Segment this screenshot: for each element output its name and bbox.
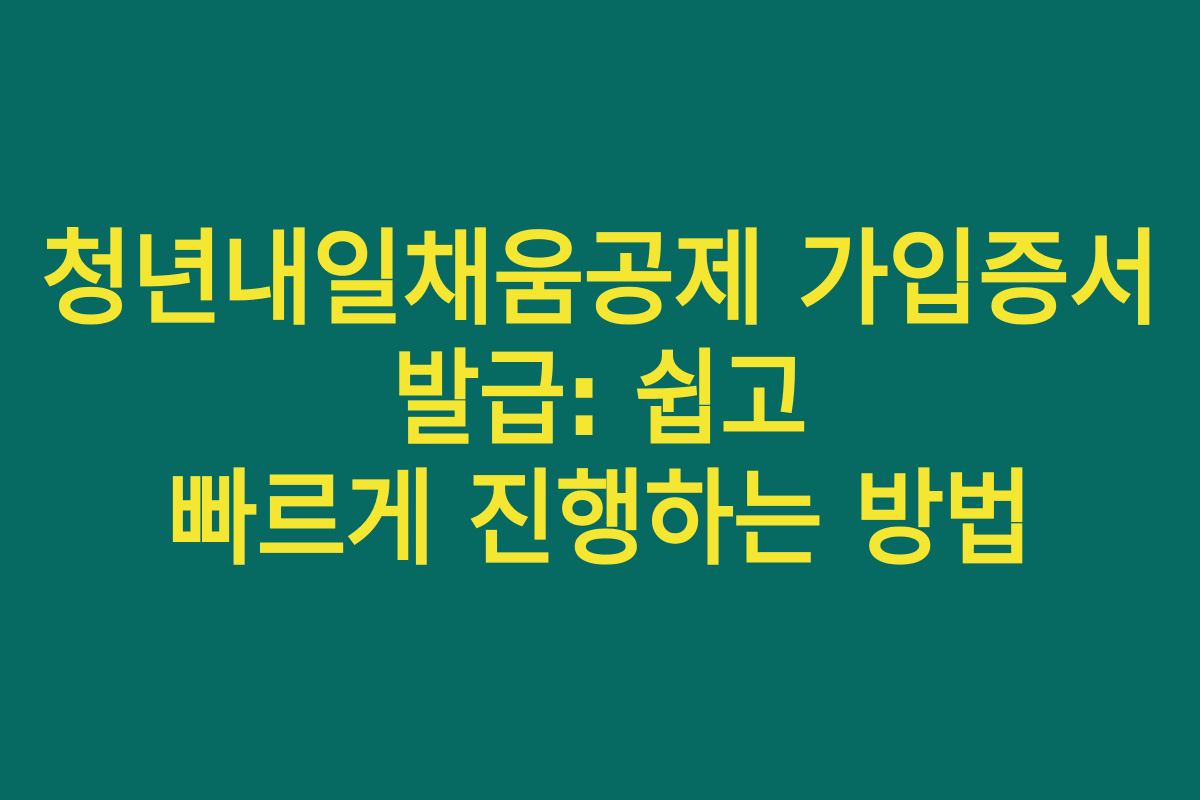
- headline-line-1-text: 청년내일채움공제 가입증서: [41, 219, 1159, 339]
- headline-line-3: 빠르게 진행하는 방법: [0, 459, 1200, 579]
- headline-line-3-text: 빠르게 진행하는 방법: [168, 459, 1032, 579]
- headline-line-2-text: 발급: 쉽고: [393, 339, 807, 459]
- poster-canvas: 청년내일채움공제 가입증서 발급: 쉽고 빠르게 진행하는 방법: [0, 0, 1200, 800]
- headline-block: 청년내일채움공제 가입증서 발급: 쉽고 빠르게 진행하는 방법: [0, 219, 1200, 579]
- headline-line-1: 청년내일채움공제 가입증서: [0, 219, 1200, 339]
- headline-line-2: 발급: 쉽고: [0, 339, 1200, 459]
